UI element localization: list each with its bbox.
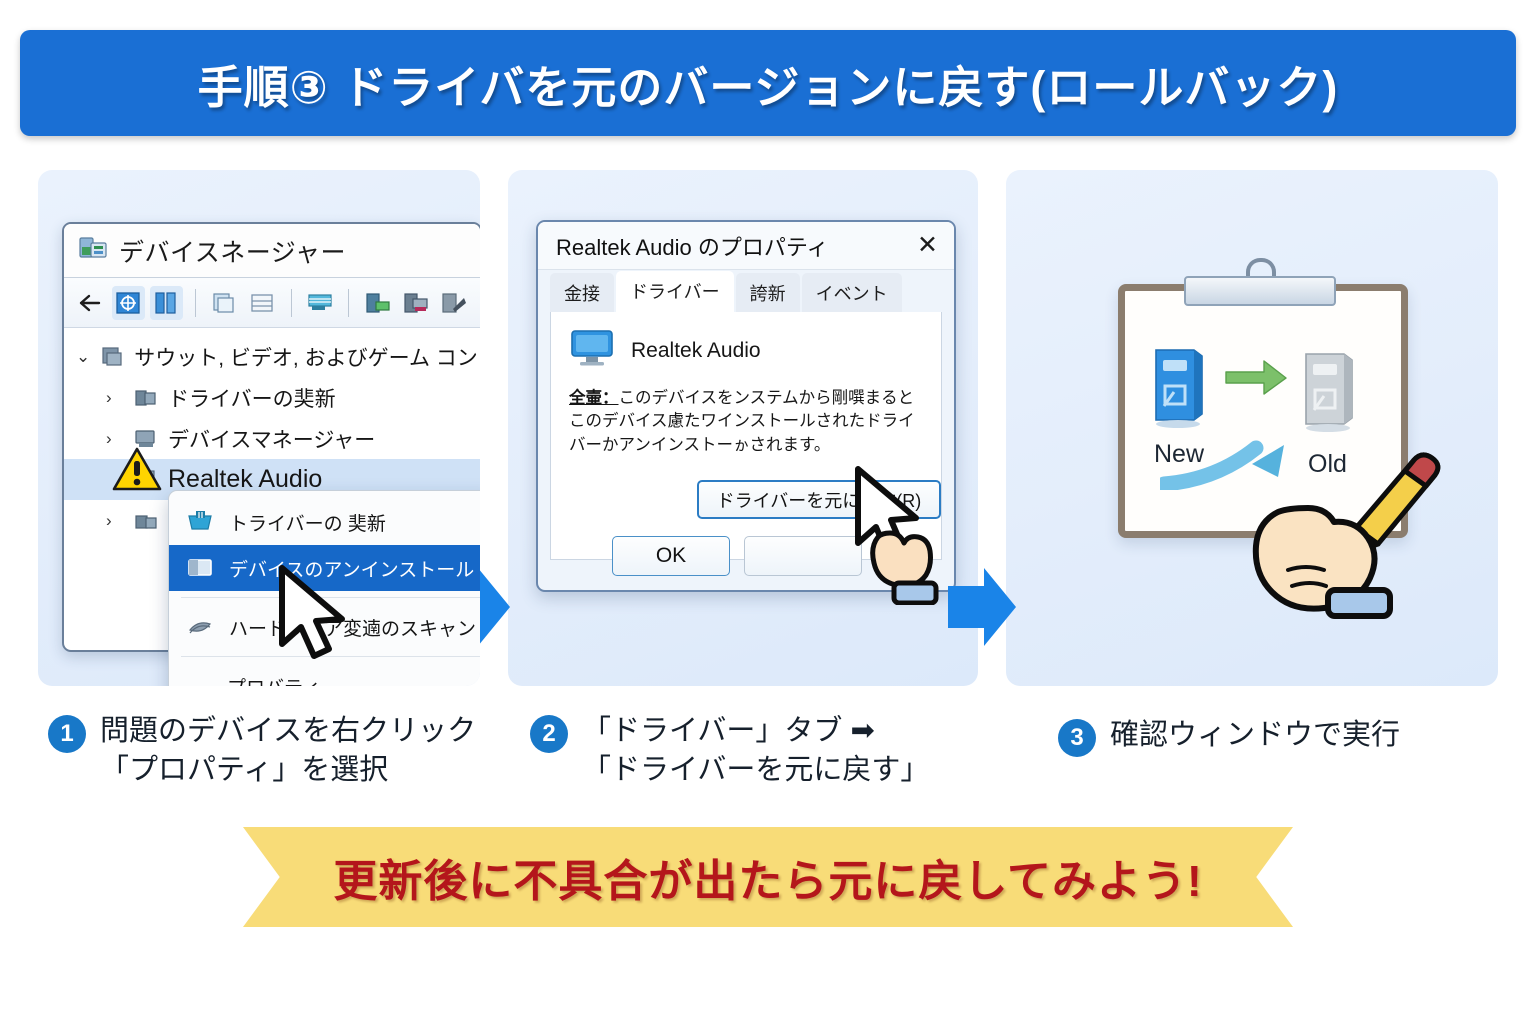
dialog-tabs[interactable]: 金接 ドライバー 誇新 イベント <box>538 270 954 312</box>
device-icon <box>133 386 159 410</box>
tree-item-label: サウット, ビデオ, およびゲーム コントロ <box>134 342 480 372</box>
dialog-description: 全壷：このデバイスをンステムから剛噀まるとこのデバイス慮たワインストールされたド… <box>569 387 923 457</box>
mouse-cursor-icon <box>274 564 360 677</box>
caption-text: 問題のデバイスを右クリック 「プロパティ」を選択 <box>100 712 476 789</box>
caption-3: 3 確認ウィンドウで実行 <box>1058 716 1400 757</box>
toolbar-divider <box>195 289 196 317</box>
tab-driver[interactable]: ドライバー <box>616 271 734 312</box>
chevron-right-icon[interactable]: › <box>106 388 124 408</box>
caption-text: 確認ウィンドウで実行 <box>1110 716 1400 755</box>
description-prefix: 全壷： <box>569 389 619 407</box>
page-title: 手順③ ドライバを元のバージョンに戻す(ロールバック) <box>198 51 1339 116</box>
device-manager-icon <box>78 234 108 267</box>
caption-line-1: 問題のデバイスを右クリック <box>100 715 476 747</box>
dialog-titlebar: Realtek Audio のプロパティ ✕ <box>538 222 954 270</box>
copy-icon[interactable] <box>208 286 241 320</box>
caption-line-2: 「プロパティ」を選択 <box>100 754 388 786</box>
device-manager-toolbar[interactable] <box>64 278 480 328</box>
caption-2: 2 「ドライバー」タブ ➡ 「ドライバーを元に戻す」 <box>530 712 929 789</box>
caption-line-1: 確認ウィンドウで実行 <box>1110 719 1400 751</box>
ribbon-text: 更新後に不具合が出たら元に戻してみよう! <box>333 845 1202 909</box>
properties-icon[interactable] <box>112 286 145 320</box>
scan-hardware-icon <box>185 614 215 640</box>
caption-text: 「ドライバー」タブ ➡ 「ドライバーを元に戻す」 <box>582 712 929 789</box>
green-arrow-icon <box>1224 356 1290 401</box>
clipboard-clip <box>1184 276 1336 306</box>
caption-number-badge: 3 <box>1058 719 1096 757</box>
dialog-device-row: Realtek Audio <box>569 328 923 373</box>
tab-events[interactable]: イベント <box>802 273 902 312</box>
warning-triangle-icon <box>112 446 162 497</box>
step-1-panel: デバイスネージャー <box>38 170 480 686</box>
update-driver-icon[interactable] <box>303 286 336 320</box>
device-manager-title: デバイスネージャー <box>119 233 346 269</box>
infographic-page: 手順③ ドライバを元のバージョンに戻す(ロールバック) デ <box>0 0 1536 1024</box>
update-driver-icon <box>185 509 215 535</box>
toolbar-divider <box>291 289 292 317</box>
list-icon[interactable] <box>246 286 279 320</box>
uninstall-icon <box>185 555 215 581</box>
step-2-panel: Realtek Audio のプロパティ ✕ 金接 ドライバー 誇新 イベント <box>508 170 978 686</box>
captions-row: 1 問題のデバイスを右クリック 「プロパティ」を選択 2 「ドライバー」タブ ➡… <box>0 706 1536 816</box>
tab-general[interactable]: 金接 <box>550 273 614 312</box>
context-menu-item-update-driver[interactable]: トライバーの 奜新 <box>169 499 480 545</box>
printer-icon <box>133 509 159 533</box>
caption-1: 1 問題のデバイスを右クリック 「プロパティ」を選択 <box>48 712 476 789</box>
connector-arrow-2-icon <box>948 562 1018 652</box>
tree-row[interactable]: › ドライバーの奜新 <box>64 377 480 418</box>
hand-with-pencil-icon <box>1218 420 1448 625</box>
tab-details[interactable]: 誇新 <box>736 273 800 312</box>
caption-number-badge: 2 <box>530 715 568 753</box>
tree-item-label: デバイスマネージャー <box>168 424 375 454</box>
bottom-ribbon: 更新後に不具合が出たら元に戻してみよう! <box>243 827 1293 927</box>
caption-line-1: 「ドライバー」タブ ➡ <box>582 715 875 747</box>
step-3-panel: New Old <box>1006 170 1498 686</box>
monitor-icon <box>569 328 615 373</box>
device-manager-titlebar: デバイスネージャー <box>64 224 480 278</box>
enable-device-icon[interactable] <box>361 286 394 320</box>
tree-item-label: ドライバーの奜新 <box>168 383 336 413</box>
uninstall-device-icon[interactable] <box>437 286 470 320</box>
disable-device-icon[interactable] <box>399 286 432 320</box>
close-icon[interactable]: ✕ <box>917 233 938 258</box>
hand-cursor-icon <box>848 465 948 610</box>
toolbar-divider <box>348 289 349 317</box>
description-text: このデバイスをンステムから剛噀まるとこのデバイス慮たワインストールされたドライバ… <box>569 389 915 454</box>
context-menu-label: トライバーの 奜新 <box>229 509 386 536</box>
caption-line-2: 「ドライバーを元に戻す」 <box>582 754 929 786</box>
caption-number-badge: 1 <box>48 715 86 753</box>
ok-button[interactable]: OK <box>612 536 730 576</box>
device-name: Realtek Audio <box>631 339 761 363</box>
cancel-button[interactable] <box>744 536 862 576</box>
steps-panel-row: デバイスネージャー <box>0 170 1536 690</box>
tree-row[interactable]: ⌄ サウット, ビデオ, およびゲーム コントロ <box>64 336 480 377</box>
header-banner: 手順③ ドライバを元のバージョンに戻す(ロールバック) <box>20 30 1516 136</box>
chevron-down-icon[interactable]: ⌄ <box>76 347 90 367</box>
back-arrow-icon[interactable] <box>74 286 107 320</box>
sound-controller-icon <box>99 345 125 369</box>
dialog-title: Realtek Audio のプロパティ <box>556 230 829 262</box>
chevron-right-icon[interactable]: › <box>106 511 124 531</box>
columns-icon[interactable] <box>150 286 183 320</box>
